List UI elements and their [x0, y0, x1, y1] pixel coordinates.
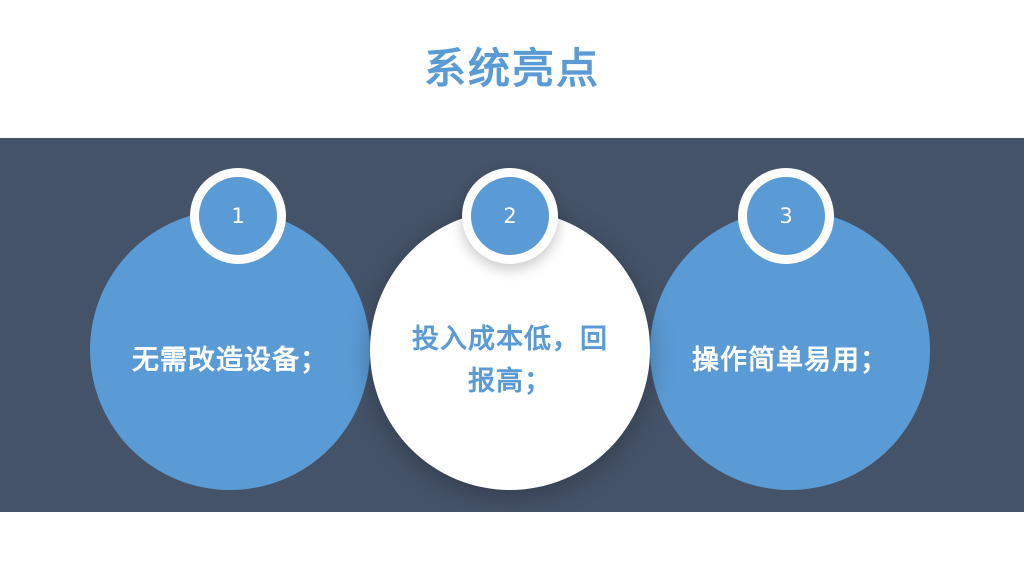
highlight-label-2: 投入成本低，回报高；	[405, 319, 615, 403]
slide-root: 系统亮点 无需改造设备； 投入成本低，回报高； 操作简单易用； 1 2 3	[0, 0, 1024, 576]
highlight-number-badge-2[interactable]: 2	[462, 168, 558, 264]
highlight-label-3: 操作简单易用；	[685, 340, 895, 382]
highlight-label-1: 无需改造设备；	[125, 340, 335, 382]
highlights-band: 无需改造设备； 投入成本低，回报高； 操作简单易用； 1 2 3	[0, 138, 1024, 512]
highlight-number-badge-1[interactable]: 1	[190, 168, 286, 264]
page-title: 系统亮点	[0, 44, 1024, 94]
highlight-number-badge-3[interactable]: 3	[738, 168, 834, 264]
